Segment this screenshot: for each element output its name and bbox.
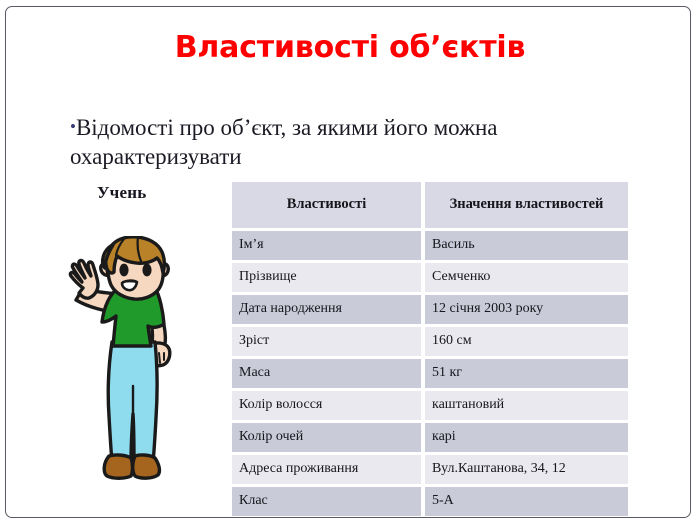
- cell-property: Колір волосся: [232, 391, 425, 423]
- properties-table: Властивості Значення властивостей Ім’я В…: [232, 182, 628, 516]
- cell-property: Клас: [232, 487, 425, 516]
- table-row: Колір волосся каштановий: [232, 391, 628, 423]
- cell-value: Вул.Каштанова, 34, 12: [425, 455, 628, 487]
- bullet-paragraph: •Відомості про об’єкт, за якими його мож…: [70, 112, 630, 171]
- cell-property: Маса: [232, 359, 425, 391]
- cell-property: Адреса проживання: [232, 455, 425, 487]
- cell-value: Василь: [425, 231, 628, 263]
- cell-property: Прізвище: [232, 263, 425, 295]
- column-header-property: Властивості: [232, 182, 425, 231]
- student-caption: Учень: [97, 183, 146, 203]
- table-row: Ім’я Василь: [232, 231, 628, 263]
- cell-property: Ім’я: [232, 231, 425, 263]
- cell-property: Зріст: [232, 327, 425, 359]
- table-row: Маса 51 кг: [232, 359, 628, 391]
- table-row: Зріст 160 см: [232, 327, 628, 359]
- cell-value: каштановий: [425, 391, 628, 423]
- cell-value: 12 січня 2003 року: [425, 295, 628, 327]
- slide-title: Властивості об’єктів: [0, 31, 700, 65]
- cartoon-boy-illustration: [62, 236, 192, 480]
- cell-property: Дата народження: [232, 295, 425, 327]
- column-header-value: Значення властивостей: [425, 182, 628, 231]
- table-row: Клас 5-А: [232, 487, 628, 516]
- cell-value: 160 см: [425, 327, 628, 359]
- table-row: Дата народження 12 січня 2003 року: [232, 295, 628, 327]
- table-row: Колір очей карі: [232, 423, 628, 455]
- bullet-text: Відомості про об’єкт, за якими його можн…: [70, 115, 498, 169]
- table-row: Адреса проживання Вул.Каштанова, 34, 12: [232, 455, 628, 487]
- cell-property: Колір очей: [232, 423, 425, 455]
- cell-value: 51 кг: [425, 359, 628, 391]
- table-header-row: Властивості Значення властивостей: [232, 182, 628, 231]
- cell-value: 5-А: [425, 487, 628, 516]
- cell-value: Семченко: [425, 263, 628, 295]
- table-row: Прізвище Семченко: [232, 263, 628, 295]
- slide-canvas: Властивості об’єктів •Відомості про об’є…: [0, 0, 700, 525]
- cell-value: карі: [425, 423, 628, 455]
